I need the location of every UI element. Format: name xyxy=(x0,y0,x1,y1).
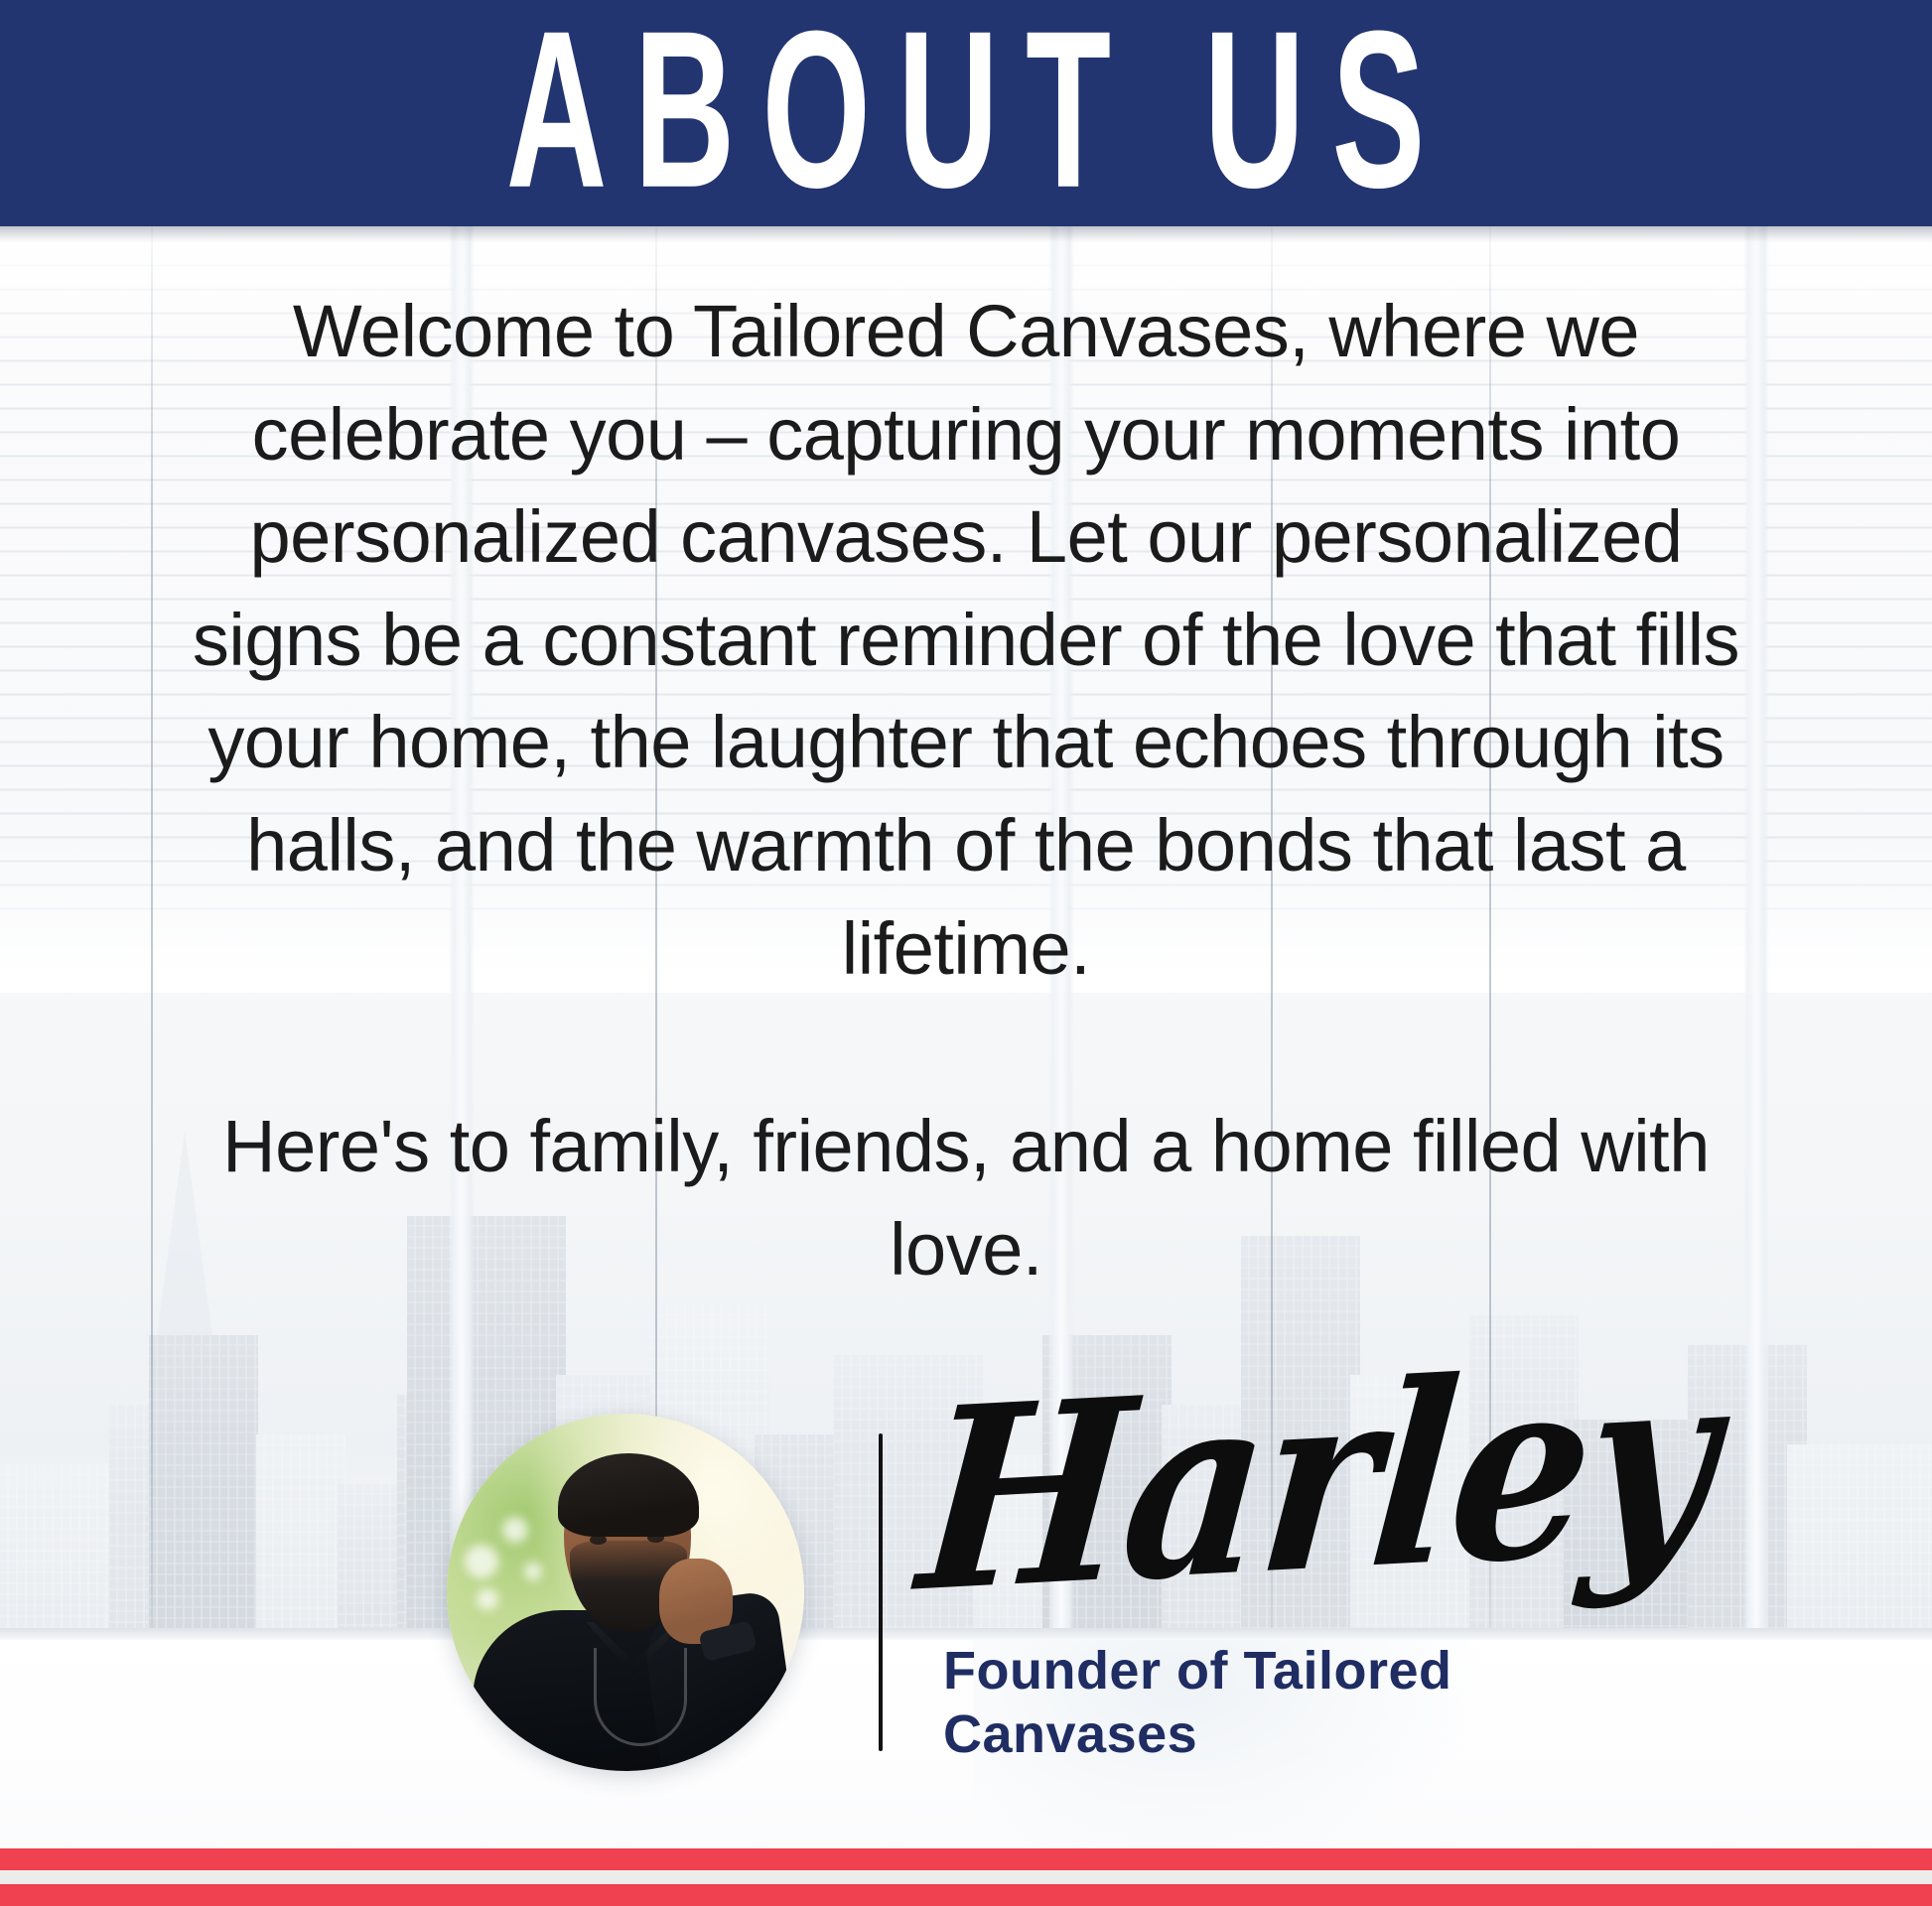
page-title: ABOUT US xyxy=(480,0,1452,222)
avatar-photo xyxy=(447,1414,804,1771)
footer-stripe-gap xyxy=(0,1870,1932,1884)
avatar-necklace xyxy=(594,1648,687,1746)
paragraph-2: Here's to family, friends, and a home fi… xyxy=(189,1095,1743,1300)
about-us-body-copy: Welcome to Tailored Canvases, where we c… xyxy=(189,280,1743,1300)
about-us-banner: ABOUT US xyxy=(0,0,1932,226)
avatar xyxy=(447,1414,804,1771)
about-us-poster: ABOUT US Welcome to Tailored Canvases, w… xyxy=(0,0,1932,1906)
signature-divider xyxy=(879,1433,883,1751)
founder-role-line-2: Canvases xyxy=(943,1703,1559,1767)
footer-stripe-bottom xyxy=(0,1884,1932,1906)
founder-role-line-1: Founder of Tailored xyxy=(943,1640,1559,1703)
paragraph-spacer xyxy=(189,1000,1743,1095)
banner-drop-shadow xyxy=(0,226,1932,242)
avatar-hair xyxy=(558,1453,699,1537)
footer-stripe-top xyxy=(0,1848,1932,1870)
founder-block: Harley Founder of Tailored Canvases xyxy=(0,1390,1932,1807)
founder-signature: Harley xyxy=(912,1334,1722,1626)
paragraph-1: Welcome to Tailored Canvases, where we c… xyxy=(189,280,1743,1000)
founder-role: Founder of Tailored Canvases xyxy=(943,1640,1559,1766)
